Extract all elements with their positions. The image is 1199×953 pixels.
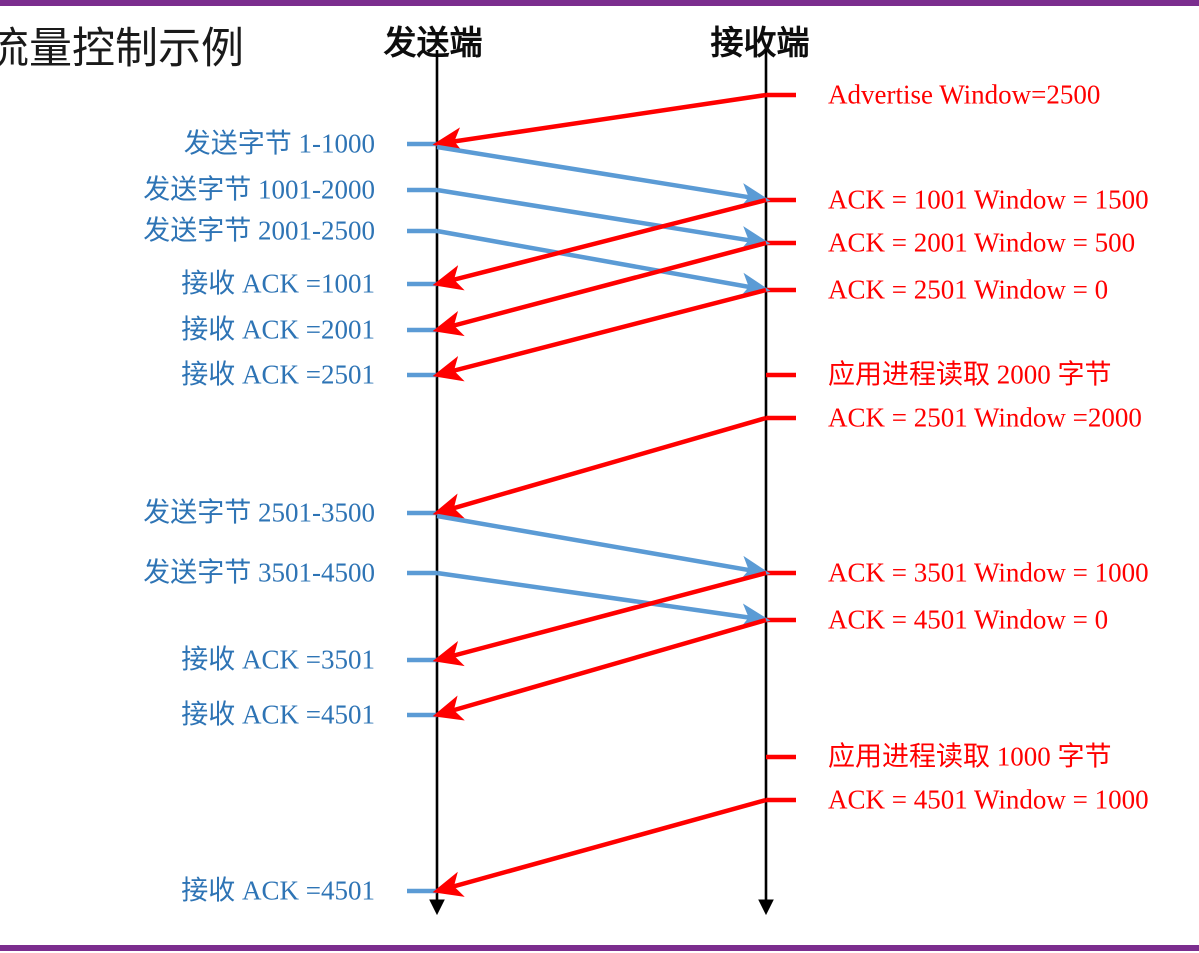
sender-event-label-send-1-1000: 发送字节 1-1000	[184, 131, 375, 158]
slide-canvas: 流量控制示例 发送端 接收端 发送字节 1-1000发送字节 1001-2000…	[0, 0, 1199, 953]
sender-event-label-recv-ack-4501-b: 接收 ACK =4501	[181, 878, 375, 905]
msg-segment-3501-4500	[437, 573, 766, 620]
msg-segment-2501-3500	[437, 516, 766, 573]
sender-event-label-send-2001-2500: 发送字节 2001-2500	[143, 218, 375, 245]
msg-segment-1001-2000	[437, 190, 766, 243]
receiver-event-label-ack-2501-w0: ACK = 2501 Window = 0	[828, 277, 1108, 304]
sender-event-label-recv-ack-1001: 接收 ACK =1001	[181, 271, 375, 298]
sender-event-label-send-1001-2000: 发送字节 1001-2000	[143, 177, 375, 204]
msg-ack-2001	[437, 243, 766, 330]
sender-event-label-recv-ack-4501: 接收 ACK =4501	[181, 702, 375, 729]
lifeline-axes	[437, 50, 766, 912]
receiver-event-label-ack-4501-w0: ACK = 4501 Window = 0	[828, 607, 1108, 634]
receiver-event-label-ack-3501-w1000: ACK = 3501 Window = 1000	[828, 560, 1149, 587]
msg-ack-4501	[437, 620, 766, 715]
msg-advertise-window	[437, 95, 766, 144]
msg-segment-1-1000	[437, 147, 766, 200]
receiver-event-label-ack-2501-w2000: ACK = 2501 Window =2000	[828, 405, 1142, 432]
receiver-event-label-app-read-2000: 应用进程读取 2000 字节	[828, 362, 1112, 389]
receiver-event-label-ack-2001-w500: ACK = 2001 Window = 500	[828, 230, 1135, 257]
sender-event-label-recv-ack-3501: 接收 ACK =3501	[181, 647, 375, 674]
sender-event-label-recv-ack-2001: 接收 ACK =2001	[181, 317, 375, 344]
msg-ack-2501-w2000	[437, 418, 766, 513]
sender-event-label-recv-ack-2501: 接收 ACK =2501	[181, 362, 375, 389]
msg-ack-3501	[437, 573, 766, 660]
sender-event-label-send-3501-4500: 发送字节 3501-4500	[143, 560, 375, 587]
receiver-event-label-ack-1001-w1500: ACK = 1001 Window = 1500	[828, 187, 1149, 214]
message-arrows	[437, 95, 766, 891]
msg-ack-2501	[437, 290, 766, 375]
msg-ack-4501-w1000	[437, 800, 766, 891]
receiver-event-label-app-read-1000: 应用进程读取 1000 字节	[828, 744, 1112, 771]
receiver-event-label-advertise-window: Advertise Window=2500	[828, 82, 1100, 109]
receiver-event-label-ack-4501-w1000: ACK = 4501 Window = 1000	[828, 787, 1149, 814]
sender-event-label-send-2501-3500: 发送字节 2501-3500	[143, 500, 375, 527]
